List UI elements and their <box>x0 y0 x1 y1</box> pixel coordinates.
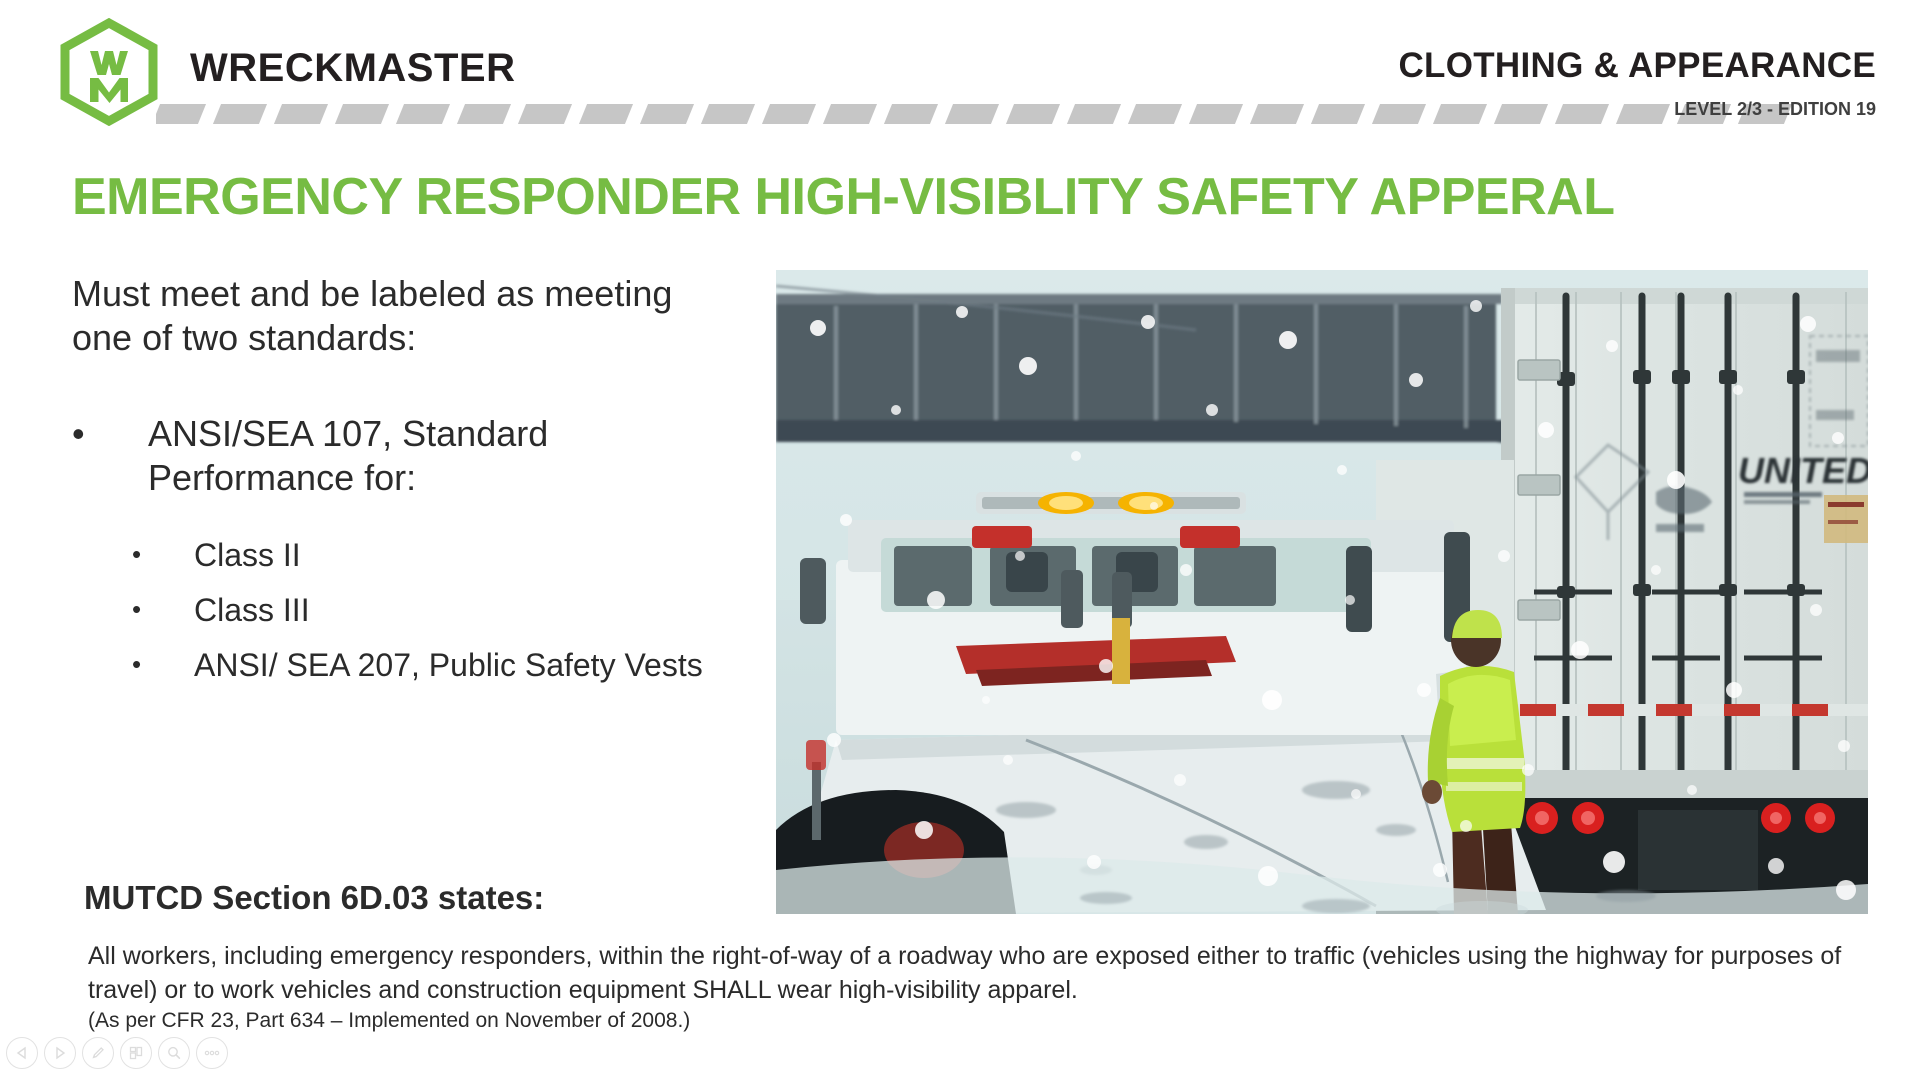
stripe-segment <box>945 104 999 124</box>
header-course-title: CLOTHING & APPEARANCE <box>1398 48 1876 83</box>
snowy-highway-tow-truck-photo: UNITED <box>776 270 1868 914</box>
bullet-icon: • <box>72 412 85 456</box>
brand-name: WRECKMASTER <box>190 48 515 88</box>
page-title: EMERGENCY RESPONDER HIGH-VISIBLITY SAFET… <box>72 170 1862 225</box>
stripe-segment <box>1189 104 1243 124</box>
stripe-segment <box>640 104 694 124</box>
list-item: • Class II <box>132 536 732 575</box>
mutcd-citation-note: (As per CFR 23, Part 634 – Implemented o… <box>88 1008 1788 1034</box>
list-item-label: ANSI/SEA 107, Standard Performance for: <box>148 413 548 498</box>
trailer-brand-text: UNITED <box>1738 450 1868 491</box>
mutcd-body-text: All workers, including emergency respond… <box>88 940 1848 1007</box>
stripe-segment <box>1616 104 1670 124</box>
stripe-segment <box>823 104 877 124</box>
list-item: • Class III <box>132 591 732 630</box>
stripe-segment <box>579 104 633 124</box>
stripe-segment <box>1433 104 1487 124</box>
slides-grid-icon[interactable] <box>120 1037 152 1069</box>
stripe-segment <box>1311 104 1365 124</box>
sub-list: • Class II • Class III • ANSI/ SEA 207, … <box>72 536 732 685</box>
bullet-icon: • <box>132 591 141 628</box>
stripe-segment <box>884 104 938 124</box>
list-item-label: Class II <box>194 537 301 573</box>
slide-header: WRECKMASTER CLOTHING & APPEARANCE LEVEL … <box>0 0 1920 130</box>
next-slide-icon[interactable] <box>44 1037 76 1069</box>
stripe-segment <box>396 104 450 124</box>
stripe-segment <box>1372 104 1426 124</box>
stripe-segment <box>1067 104 1121 124</box>
stripe-segment <box>1128 104 1182 124</box>
stripe-segment <box>213 104 267 124</box>
stripe-segment <box>457 104 511 124</box>
content-left-column: Must meet and be labeled as meeting one … <box>72 272 732 701</box>
list-item-label: ANSI/ SEA 207, Public Safety Vests <box>194 647 703 683</box>
stripe-segment <box>1250 104 1304 124</box>
more-options-icon[interactable] <box>196 1037 228 1069</box>
bullet-icon: • <box>132 646 141 683</box>
diagonal-stripe-band-icon <box>156 104 1796 124</box>
stripe-segment <box>1555 104 1609 124</box>
stripe-segment <box>762 104 816 124</box>
stripe-segment <box>156 104 206 124</box>
stripe-segment <box>274 104 328 124</box>
stripe-segment <box>1494 104 1548 124</box>
stripe-segment <box>335 104 389 124</box>
presentation-slide: WRECKMASTER CLOTHING & APPEARANCE LEVEL … <box>0 0 1920 1080</box>
stripe-segment <box>518 104 572 124</box>
previous-slide-icon[interactable] <box>6 1037 38 1069</box>
header-level-edition: LEVEL 2/3 - EDITION 19 <box>1674 100 1876 118</box>
mutcd-heading: MUTCD Section 6D.03 states: <box>84 880 544 916</box>
stripe-segment <box>1006 104 1060 124</box>
stripe-segment <box>701 104 755 124</box>
lead-paragraph: Must meet and be labeled as meeting one … <box>72 272 732 360</box>
pen-icon[interactable] <box>82 1037 114 1069</box>
list-item-label: Class III <box>194 592 310 628</box>
presentation-toolbar[interactable] <box>6 1036 228 1070</box>
list-item: • ANSI/SEA 107, Standard Performance for… <box>72 412 732 500</box>
zoom-search-icon[interactable] <box>158 1037 190 1069</box>
wm-hexagon-logo-icon <box>56 18 162 126</box>
list-item: • ANSI/ SEA 207, Public Safety Vests <box>132 646 732 685</box>
bullet-icon: • <box>132 536 141 573</box>
